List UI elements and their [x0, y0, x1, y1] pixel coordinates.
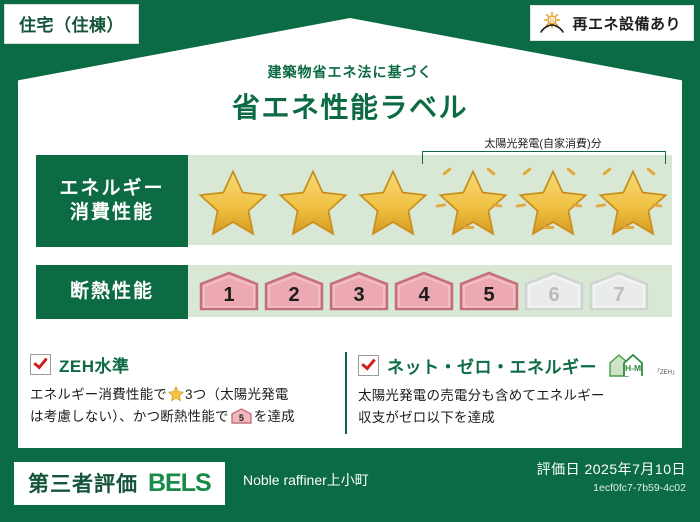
energy-performance-label-box: エネルギー 消費性能	[36, 155, 188, 247]
insulation-grade-3: 3	[328, 271, 390, 311]
zeh-section: ZEH水準 エネルギー消費性能で3つ（太陽光発電 は考慮しない）、かつ断熱性能で…	[30, 352, 340, 427]
label-footer: 第三者評価 BELS Noble raffiner上小町 評価日 2025年7月…	[0, 450, 700, 522]
title-block: 建築物省エネ法に基づく 省エネ性能ラベル	[0, 62, 700, 126]
star-3	[354, 164, 432, 242]
building-type-tab: 住宅（住棟）	[4, 4, 139, 44]
svg-text:H-M: H-M	[625, 363, 641, 373]
bels-en-label: BELS	[148, 469, 211, 498]
insulation-performance-row: 断熱性能 1234567	[36, 265, 672, 319]
energy-performance-label: ハウスメ 住宅（住棟） D 再エネ設備あり 建築物省エネ法に基づく 省エネ性能ラ…	[0, 0, 700, 522]
bels-jp-label: 第三者評価	[28, 468, 138, 498]
energy-performance-row: エネルギー 消費性能 太陽光発電(自家消費)分	[36, 155, 672, 247]
star-icon	[358, 168, 428, 238]
grade-number: 1	[223, 285, 234, 311]
grade-number: 3	[353, 285, 364, 311]
nze-text-1: 太陽光発電の売電分も含めてエネルギー	[358, 388, 605, 403]
renewable-equipment-badge: D 再エネ設備あり	[530, 5, 694, 41]
grade-scale: 1234567	[198, 271, 650, 311]
svg-text:D: D	[550, 19, 554, 25]
solar-annotation-bracket	[422, 151, 666, 164]
nze-title: ネット・ゼロ・エネルギー	[387, 353, 597, 378]
star-5	[514, 164, 592, 242]
renewable-badge-label: 再エネ設備あり	[572, 13, 681, 34]
nze-heading: ネット・ゼロ・エネルギー H-M 「ZEH」	[358, 352, 678, 378]
evaluation-date: 評価日 2025年7月10日	[537, 459, 686, 479]
star-6	[594, 164, 672, 242]
zeh-house-logo: H-M 「ZEH」	[607, 352, 678, 378]
zeh-title: ZEH水準	[59, 352, 130, 377]
insulation-label: 断熱性能	[70, 280, 154, 304]
nze-text-2: 収支がゼロ以下を達成	[358, 410, 495, 425]
zeh-text-3: は考慮しない）、かつ断熱性能で	[30, 409, 229, 424]
net-zero-energy-section: ネット・ゼロ・エネルギー H-M 「ZEH」 太陽光発電の売電分も含めてエネルギ…	[358, 352, 678, 428]
grade-number: 7	[613, 285, 624, 311]
grade-number: 2	[288, 285, 299, 311]
insulation-grades-panel: 1234567	[188, 265, 672, 317]
zeh-text-1: エネルギー消費性能で	[30, 387, 167, 402]
star-4	[434, 164, 512, 242]
star-icon	[278, 168, 348, 238]
insulation-grade-2: 2	[263, 271, 325, 311]
grade-number: 6	[548, 285, 559, 311]
zeh-description: エネルギー消費性能で3つ（太陽光発電 は考慮しない）、かつ断熱性能で5を達成	[30, 384, 340, 427]
zeh-heading: ZEH水準	[30, 352, 340, 377]
energy-label-line2: 消費性能	[70, 201, 154, 225]
energy-stars-panel: 太陽光発電(自家消費)分	[188, 155, 672, 245]
zeh-text-4: を達成	[254, 409, 295, 424]
star-icon	[168, 386, 184, 402]
insulation-performance-label-box: 断熱性能	[36, 265, 188, 319]
nze-description: 太陽光発電の売電分も含めてエネルギー 収支がゼロ以下を達成	[358, 385, 678, 428]
nze-checkbox-icon	[358, 355, 379, 376]
sun-icon: D	[539, 11, 565, 35]
star-1	[194, 164, 272, 242]
energy-label-line1: エネルギー	[59, 177, 164, 201]
insulation-grade-4: 4	[393, 271, 455, 311]
zeh-checkbox-icon	[30, 354, 51, 375]
solar-annotation-text: 太陽光発電(自家消費)分	[420, 135, 666, 151]
insulation-grade-7: 7	[588, 271, 650, 311]
bels-evaluation-badge: 第三者評価 BELS	[14, 462, 225, 505]
insulation-grade-6: 6	[523, 271, 585, 311]
grade-number: 5	[483, 285, 494, 311]
page-title: 省エネ性能ラベル	[0, 86, 700, 126]
insulation-grade-5: 5	[458, 271, 520, 311]
zeh-logo-caption: 「ZEH」	[654, 367, 678, 376]
label-subtitle: 建築物省エネ法に基づく	[0, 62, 700, 82]
grade-5-icon: 5	[231, 408, 252, 424]
svg-text:5: 5	[239, 413, 244, 423]
insulation-grade-1: 1	[198, 271, 260, 311]
grade-number: 4	[418, 285, 429, 311]
section-divider	[345, 352, 347, 434]
star-2	[274, 164, 352, 242]
evaluation-id: 1ecf0fc7-7b59-4c02	[593, 482, 686, 494]
zeh-text-2: 3つ（太陽光発電	[185, 387, 289, 402]
building-name: Noble raffiner上小町	[243, 470, 369, 490]
star-rating	[194, 164, 672, 242]
star-icon	[198, 168, 268, 238]
